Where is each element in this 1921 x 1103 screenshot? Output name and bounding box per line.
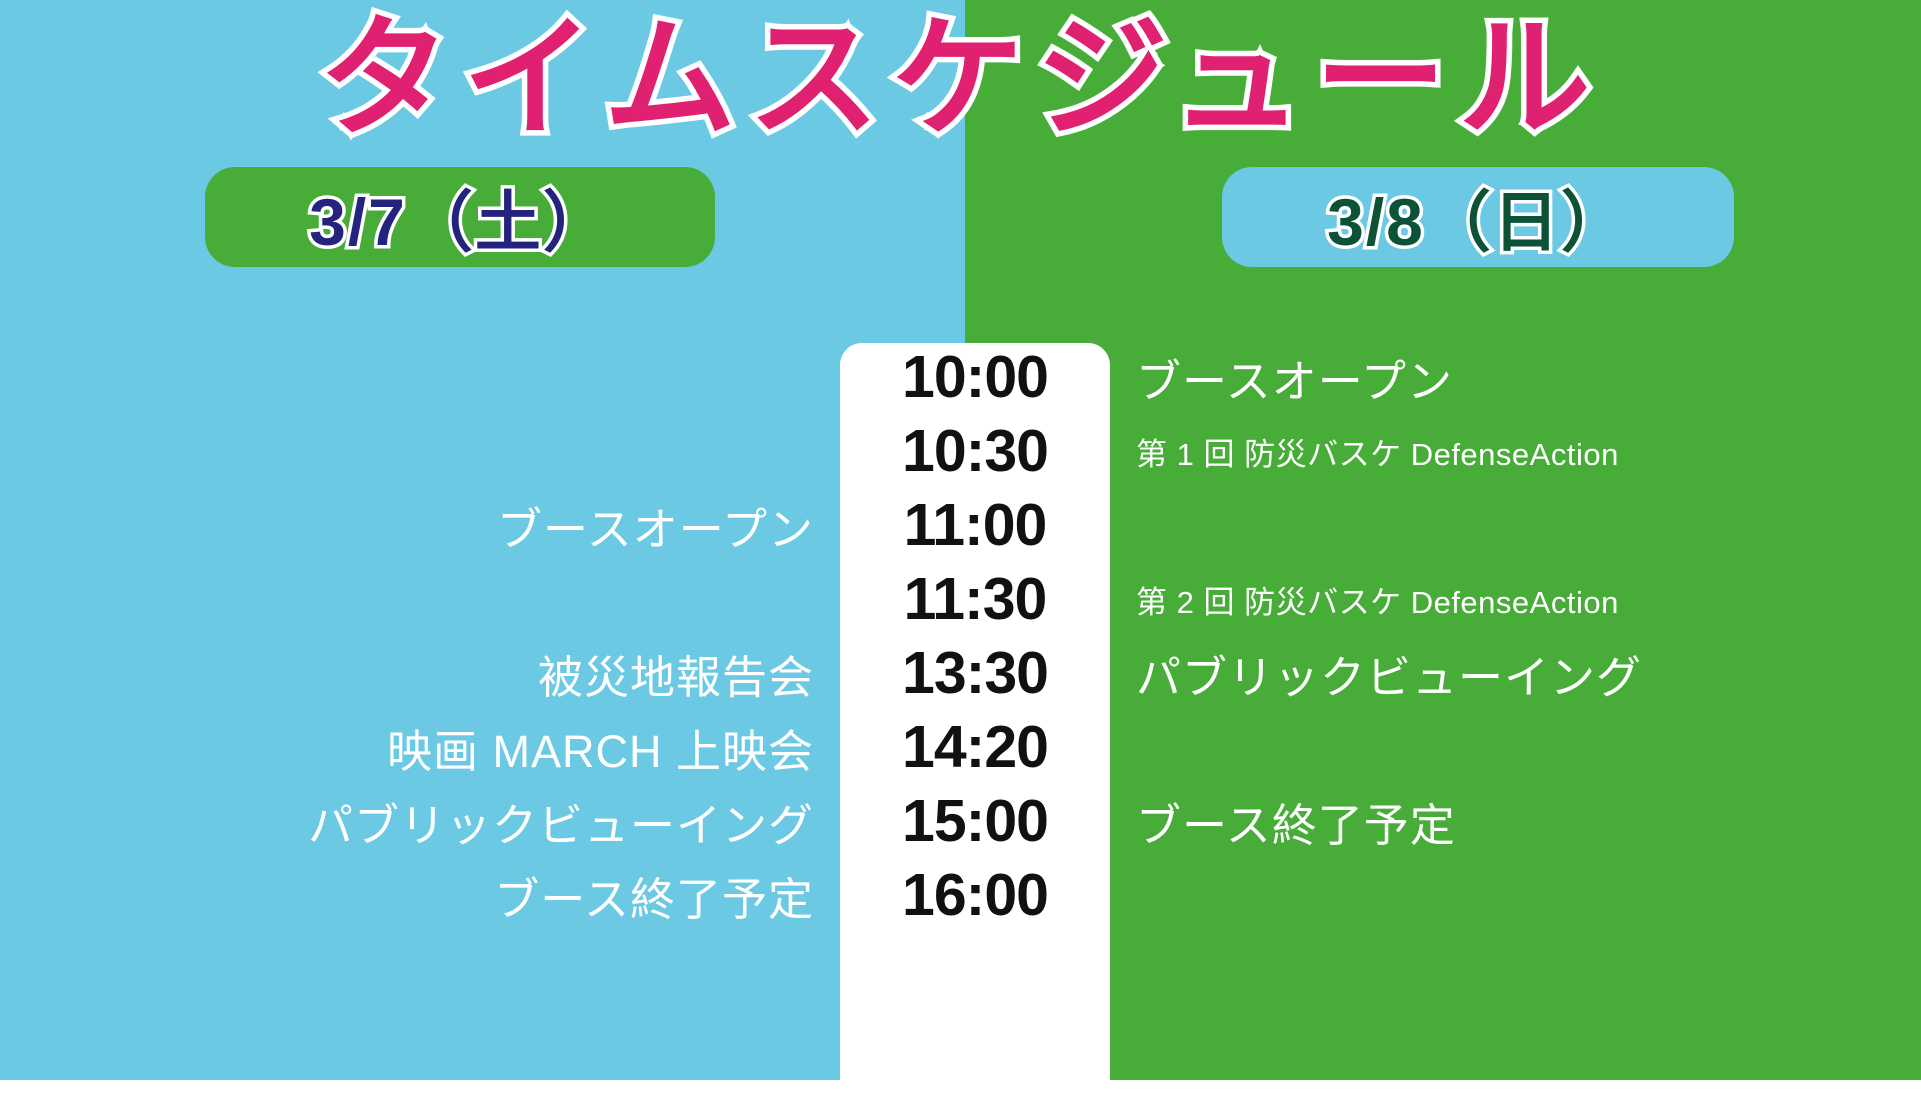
- schedule-left-event: 映画 MARCH 上映会: [0, 710, 840, 784]
- schedule-right-event: パブリックビューイング: [1110, 636, 1921, 710]
- schedule-left-event: パブリックビューイング: [0, 784, 840, 858]
- schedule-left-event: [0, 414, 840, 488]
- schedule-left-event: [0, 340, 840, 414]
- schedule-time: 10:30: [840, 414, 1110, 488]
- schedule-time: 14:20: [840, 710, 1110, 784]
- schedule-right-event: ブース終了予定: [1110, 784, 1921, 858]
- schedule-left-event: ブース終了予定: [0, 858, 840, 932]
- schedule-time: 16:00: [840, 858, 1110, 932]
- schedule-right-event: 第 2 回 防災バスケ DefenseAction: [1110, 562, 1921, 636]
- date-badge-saturday: 3/7（土）: [205, 167, 715, 267]
- schedule-grid: 10:00ブースオープン10:30第 1 回 防災バスケ DefenseActi…: [0, 340, 1921, 932]
- schedule-right-event: [1110, 488, 1921, 562]
- date-badge-sunday: 3/8（日）: [1222, 167, 1734, 267]
- schedule-right-event: [1110, 710, 1921, 784]
- schedule-time: 10:00: [840, 340, 1110, 414]
- schedule-right-event: [1110, 858, 1921, 932]
- schedule-time: 13:30: [840, 636, 1110, 710]
- schedule-left-event: ブースオープン: [0, 488, 840, 562]
- schedule-time: 15:00: [840, 784, 1110, 858]
- poster-canvas: タイムスケジュール 3/7（土） 3/8（日） 10:00ブースオープン10:3…: [0, 0, 1921, 1080]
- page-title: タイムスケジュール: [0, 4, 1921, 154]
- schedule-right-event: ブースオープン: [1110, 340, 1921, 414]
- date-badge-saturday-label: 3/7（土）: [309, 169, 611, 265]
- schedule-left-event: 被災地報告会: [0, 636, 840, 710]
- date-badge-sunday-label: 3/8（日）: [1327, 169, 1629, 265]
- schedule-left-event: [0, 562, 840, 636]
- schedule-time: 11:00: [840, 488, 1110, 562]
- schedule-time: 11:30: [840, 562, 1110, 636]
- schedule-right-event: 第 1 回 防災バスケ DefenseAction: [1110, 414, 1921, 488]
